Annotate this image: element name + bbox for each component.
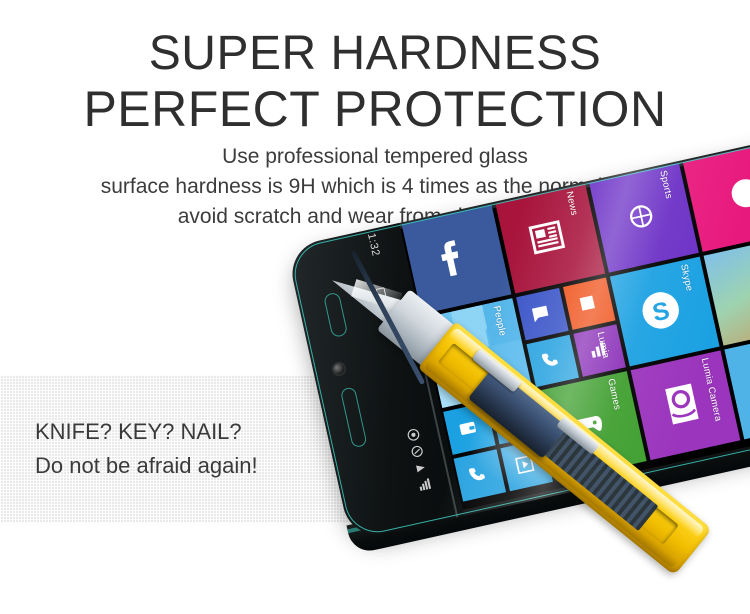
facebook-icon — [425, 231, 480, 286]
tile-phone-icon[interactable] — [527, 335, 579, 387]
video-icon — [512, 451, 538, 477]
tile-people-icon[interactable]: People — [422, 298, 532, 408]
phone-icon — [538, 347, 564, 373]
camera-icon — [657, 377, 706, 431]
tile-video-icon[interactable] — [500, 439, 552, 491]
tile-xbox-games-icon[interactable]: Games — [537, 371, 647, 481]
signal-icon — [416, 476, 433, 493]
volume-icon — [412, 460, 429, 477]
tile-phone-dial-icon[interactable] — [454, 449, 506, 501]
messaging-icon — [527, 300, 553, 326]
subheading-line-1: Use professional tempered glass — [0, 142, 750, 172]
status-bar-icons — [400, 422, 439, 497]
callout-line-2: Do not be afraid again! — [35, 449, 365, 483]
tile-lumia-icon[interactable]: Lumia — [573, 324, 625, 376]
bluetooth-icon — [405, 426, 422, 443]
tile-orange-tile-icon[interactable] — [563, 277, 615, 329]
headline-line-1: SUPER HARDNESS — [0, 30, 750, 78]
headline-block: SUPER HARDNESS PERFECT PROTECTION — [0, 30, 750, 134]
tile-facebook-icon[interactable] — [402, 205, 512, 315]
location-icon — [409, 443, 426, 460]
battery-icon — [376, 287, 388, 303]
phone-dial-icon — [465, 462, 491, 488]
status-bar-time: 1:32 — [365, 232, 388, 285]
tile-news-icon[interactable]: News — [495, 184, 605, 294]
tile-sports-icon[interactable]: Sports — [589, 163, 699, 273]
callout-text-block: KNIFE? KEY? NAIL? Do not be afraid again… — [35, 415, 365, 483]
wallet-icon — [456, 416, 480, 440]
tile-messaging-icon[interactable] — [516, 288, 568, 340]
product-banner: SUPER HARDNESS PERFECT PROTECTION Use pr… — [0, 0, 750, 614]
headline-line-2: PERFECT PROTECTION — [0, 84, 750, 134]
news-icon — [524, 215, 569, 260]
callout-line-1: KNIFE? KEY? NAIL? — [35, 415, 365, 449]
tile-wallet-icon[interactable] — [443, 402, 495, 454]
tile-ie-icon[interactable]: e — [490, 392, 542, 444]
xbox-games-icon — [563, 400, 613, 450]
pink-tile-icon — [721, 168, 750, 218]
tile-camera-icon[interactable]: Lumia Camera — [631, 350, 741, 460]
skype-icon: S — [633, 283, 688, 338]
tile-skype-icon[interactable]: SSkype — [610, 257, 720, 367]
orange-tile-icon — [574, 290, 600, 316]
ie-icon: e — [500, 403, 529, 432]
sports-icon — [623, 199, 659, 235]
svg-text:e: e — [509, 408, 521, 428]
